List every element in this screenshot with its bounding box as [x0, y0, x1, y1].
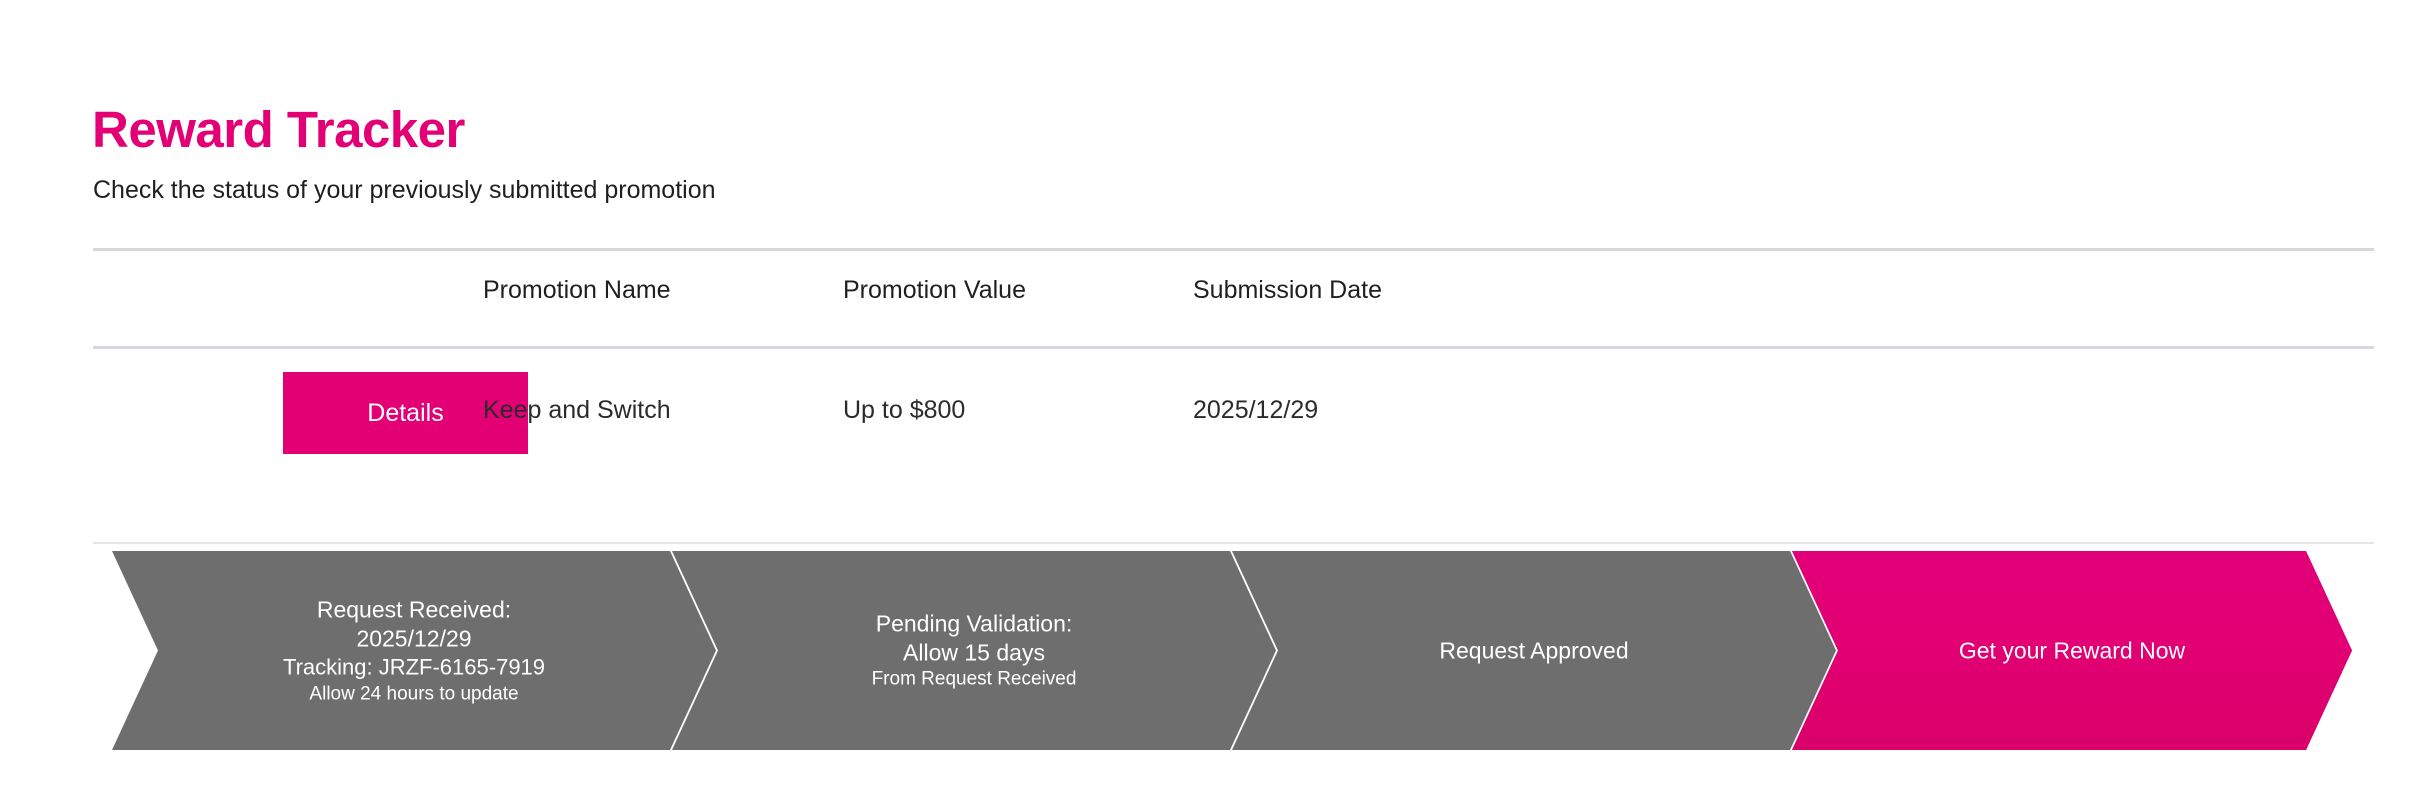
table-header-submission-date: Submission Date — [1193, 276, 1543, 305]
tracker-step-1-line-2: 2025/12/29 — [172, 624, 656, 653]
promotion-value-value: Up to $800 — [843, 398, 965, 423]
tracker-step-3-line-1: Request Approved — [1292, 636, 1776, 665]
tracker-step-2-line-2: Allow 15 days — [732, 638, 1216, 667]
page-title: Reward Tracker — [92, 102, 465, 158]
tracker-step-1-content: Request Received: 2025/12/29 Tracking: J… — [112, 595, 716, 706]
tracker-step-1-line-1: Request Received: — [172, 595, 656, 624]
tracker-step-4-content: Get your Reward Now — [1792, 636, 2352, 665]
reward-tracker-page: Reward Tracker Check the status of your … — [0, 0, 2434, 798]
tracker-step-1-line-3: Tracking: JRZF-6165-7919 — [172, 654, 656, 682]
tracker-step-4-line-1: Get your Reward Now — [1852, 636, 2292, 665]
tracker-step-get-your-reward[interactable]: Get your Reward Now — [1792, 551, 2352, 750]
tracker-step-pending-validation[interactable]: Pending Validation: Allow 15 days From R… — [672, 551, 1276, 750]
table-header-promotion-value: Promotion Value — [843, 276, 1193, 305]
tracker-step-2-content: Pending Validation: Allow 15 days From R… — [672, 609, 1276, 692]
table-header-submission-date-label: Submission Date — [1193, 276, 1382, 304]
table-top-divider — [93, 248, 2374, 251]
table-header-row: Promotion Name Promotion Value Submissio… — [93, 276, 2374, 331]
tracker-step-2-line-3: From Request Received — [732, 668, 1216, 692]
tracker-step-1-line-4: Allow 24 hours to update — [172, 682, 656, 706]
table-header-promotion-name: Promotion Name — [483, 276, 843, 305]
table-row: Details Keep and Switch Up to $800 2025/… — [93, 360, 2374, 480]
tracker-step-2-line-1: Pending Validation: — [732, 609, 1216, 638]
table-header-promotion-value-label: Promotion Value — [843, 276, 1026, 304]
table-header-promotion-name-label: Promotion Name — [483, 276, 671, 304]
page-subtitle: Check the status of your previously subm… — [93, 176, 716, 205]
tracker-top-divider — [93, 542, 2374, 544]
table-header-divider — [93, 346, 2374, 349]
tracker-step-request-approved[interactable]: Request Approved — [1232, 551, 1836, 750]
progress-tracker: Request Received: 2025/12/29 Tracking: J… — [0, 551, 2434, 751]
promotion-name-value: Keep and Switch — [483, 398, 671, 423]
tracker-step-request-received[interactable]: Request Received: 2025/12/29 Tracking: J… — [112, 551, 716, 750]
submission-date-value: 2025/12/29 — [1193, 398, 1318, 423]
tracker-step-3-content: Request Approved — [1232, 636, 1836, 665]
